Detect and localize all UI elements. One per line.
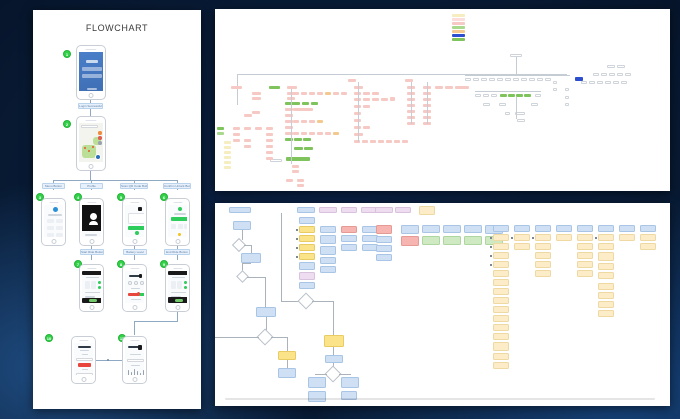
menu-item-1[interactable] (47, 219, 54, 223)
new-account-select-2[interactable] (76, 373, 93, 375)
menu-avatar (53, 207, 58, 212)
sitemap-row-d1[interactable] (293, 120, 299, 123)
unlock-success-icon (178, 207, 182, 211)
process-list3-n1[interactable] (535, 234, 551, 241)
process-col2-n4[interactable] (320, 257, 336, 264)
process-list1-n6[interactable] (493, 279, 509, 286)
sitemap-right-chain-2[interactable] (473, 78, 479, 81)
process-list4-head[interactable] (556, 225, 572, 232)
sitemap-right-row2-4[interactable] (535, 94, 541, 97)
step-badge-10[interactable]: 10 (45, 334, 53, 342)
sitemap-node-wide[interactable] (286, 157, 310, 161)
sitemap-mid-n3[interactable] (363, 92, 370, 95)
home-button[interactable] (132, 377, 137, 382)
process-col2-n1[interactable] (320, 226, 336, 233)
home-button[interactable] (89, 164, 94, 169)
sitemap-far-left-yellow-5[interactable] (224, 161, 231, 164)
sitemap-right-green-1[interactable] (500, 94, 507, 97)
home-button[interactable] (175, 305, 180, 310)
process-list5-n5[interactable] (577, 270, 593, 277)
sitemap-mid-n22[interactable] (394, 140, 400, 143)
process-list6-n6[interactable] (598, 283, 614, 290)
process-list2-n1[interactable] (514, 234, 530, 241)
map-locate-button[interactable] (95, 154, 101, 160)
process-list8-n1[interactable] (640, 234, 656, 241)
sitemap-right-row4-2[interactable] (515, 112, 525, 115)
sitemap-mid-n4[interactable] (372, 92, 379, 95)
confirm-unlock-button[interactable] (171, 217, 187, 221)
sitemap-right-row5-1[interactable] (517, 119, 525, 122)
unlock-detail-row-2 (178, 224, 183, 229)
map-action-red[interactable] (98, 136, 102, 140)
sitemap-far-right-col-1[interactable] (553, 81, 557, 84)
process-col6-n1[interactable] (401, 236, 419, 246)
process-list1-head[interactable] (493, 225, 509, 232)
process-col1-n1[interactable] (299, 226, 315, 233)
menu-item-2[interactable] (56, 219, 63, 223)
home-button[interactable] (89, 239, 94, 244)
process-col5-n3[interactable] (376, 245, 392, 252)
sitemap-row-e5[interactable] (325, 132, 331, 135)
phone-menu-screen[interactable] (41, 198, 66, 246)
new-account-select-1[interactable] (76, 358, 93, 361)
sitemap-right-green-3[interactable] (516, 94, 523, 97)
screenshot-stage: FLOWCHART 1 Login Successful 2 (0, 0, 680, 419)
sitemap-right-row3-1[interactable] (483, 103, 490, 106)
process-flowchart-panel[interactable] (215, 203, 670, 406)
sitemap-col6-n2[interactable] (266, 139, 273, 142)
process-col1-n3[interactable] (299, 244, 315, 251)
sitemap-col6-n4[interactable] (266, 151, 273, 154)
sitemap-row-a7[interactable] (341, 92, 347, 95)
phone-speaker (85, 120, 96, 122)
menu-item-5[interactable] (47, 233, 54, 237)
flowchart-panel[interactable]: FLOWCHART 1 Login Successful 2 (33, 10, 201, 409)
unlock-title (174, 213, 186, 215)
process-list1-n3[interactable] (493, 252, 509, 259)
process-list5-n1[interactable] (577, 234, 593, 241)
sitemap-right-top-1[interactable] (607, 65, 615, 68)
sitemap-mid-head-1[interactable] (348, 79, 356, 82)
sitemap-node-c8[interactable] (285, 126, 293, 129)
process-list1-n1[interactable] (493, 234, 509, 241)
sitemap-right-chain-6[interactable] (505, 78, 511, 81)
sitemap-row-e4[interactable] (317, 132, 323, 135)
process-col5-n2[interactable] (376, 236, 392, 243)
process-list7-n1[interactable] (619, 234, 635, 241)
process-list2-n2[interactable] (514, 243, 530, 250)
process-list-bullet-3 (490, 255, 492, 257)
process-list3-n3[interactable] (535, 252, 551, 259)
process-left-box-4[interactable] (278, 368, 296, 378)
sitemap-node-c15[interactable] (292, 165, 299, 168)
sitemap-row-b2[interactable] (302, 102, 309, 105)
process-bottom-box-left-2[interactable] (308, 391, 326, 402)
sitemap-col6-n5[interactable] (266, 157, 273, 160)
connector-label-scan-qr: Scan QR Code Button (120, 183, 148, 189)
unlock-button[interactable] (128, 226, 144, 230)
sitemap-right-bot-2[interactable] (589, 81, 595, 84)
sitemap-row-c1[interactable] (293, 108, 313, 111)
sitemap-far-right-col-2[interactable] (553, 88, 557, 91)
sitemap-right-green-4[interactable] (524, 94, 531, 97)
sitemap-far-left-yellow-1[interactable] (224, 141, 231, 144)
step-badge-2[interactable]: 2 (63, 120, 71, 128)
add-credit-button[interactable] (78, 363, 91, 367)
process-bottom-box-left[interactable] (308, 377, 326, 388)
sitemap-col3-n2[interactable] (244, 139, 251, 142)
process-header-1[interactable] (229, 207, 251, 213)
process-col5-n4[interactable] (376, 254, 392, 261)
sitemap-right-mid-2[interactable] (601, 73, 607, 76)
process-list5-head[interactable] (577, 225, 593, 232)
sitemap-right-bot-5[interactable] (613, 81, 619, 84)
sitemap-mid-n8[interactable] (381, 98, 388, 101)
forgot-password-link[interactable] (87, 88, 97, 90)
process-col1-bullet-3 (296, 247, 298, 249)
phone-scan-screen[interactable] (122, 198, 147, 246)
sitemap-node-l4[interactable] (244, 114, 252, 117)
sitemap-far-right-col-4[interactable] (565, 96, 569, 99)
process-list1-n15[interactable] (493, 362, 509, 369)
email-field[interactable] (82, 67, 102, 71)
menu-item-3[interactable] (47, 226, 54, 230)
sitemap-right-bot-1[interactable] (581, 81, 587, 84)
sitemap-node-c7[interactable] (285, 120, 293, 123)
process-col7-n1[interactable] (422, 236, 440, 245)
sitemap-mid-n18[interactable] (362, 140, 368, 143)
sitemap-right-mid-3[interactable] (609, 73, 615, 76)
sitemap-node-c19[interactable] (297, 184, 304, 187)
process-list1-n11[interactable] (493, 324, 509, 331)
process-list5-n2[interactable] (577, 243, 593, 250)
ride-history-menu-icon[interactable] (138, 345, 142, 350)
sitemap-node-c12[interactable] (303, 138, 311, 141)
sitemap-node-c14[interactable] (304, 147, 313, 150)
process-list5-n3[interactable] (577, 252, 593, 259)
home-button[interactable] (51, 239, 56, 244)
sitemap-tall3-n3[interactable] (455, 86, 469, 89)
sitemap-right-row2-2[interactable] (483, 94, 489, 97)
process-list6-n8[interactable] (598, 301, 614, 308)
sitemap-mid-n6[interactable] (363, 98, 370, 101)
process-col9-head[interactable] (464, 225, 482, 233)
process-col1-n5[interactable] (299, 262, 315, 270)
sitemap-right-mid-1[interactable] (593, 73, 599, 76)
home-button[interactable] (132, 239, 137, 244)
sitemap-row-a4[interactable] (317, 92, 323, 95)
sitemap-row-a3[interactable] (309, 92, 315, 95)
process-col6-head[interactable] (401, 225, 419, 234)
ride-slider-handle[interactable] (89, 299, 97, 302)
process-col8-n1[interactable] (443, 236, 461, 245)
sitemap-node-c6[interactable] (285, 114, 293, 117)
sitemap-right-chain-5[interactable] (497, 78, 503, 81)
sitemap-right-chain-1[interactable] (465, 78, 471, 81)
sitemap-node-c16[interactable] (292, 170, 299, 173)
process-header-3[interactable] (319, 207, 337, 213)
sitemap-col3-n1[interactable] (244, 127, 251, 130)
process-list1-n13[interactable] (493, 342, 509, 351)
process-col2-n5[interactable] (320, 266, 336, 273)
ride-panel-left (85, 281, 90, 289)
process-list1-n7[interactable] (493, 288, 509, 295)
map-action-orange[interactable] (98, 131, 102, 135)
process-list6-n2[interactable] (598, 243, 614, 250)
sitemap-node-c13[interactable] (294, 147, 303, 150)
sitemap-mid-n23[interactable] (402, 140, 408, 143)
process-list3-n4[interactable] (535, 261, 551, 268)
process-list6-n7[interactable] (598, 292, 614, 299)
home-button[interactable] (89, 305, 94, 310)
process-col2-n2[interactable] (320, 235, 336, 244)
process-list1-n14[interactable] (493, 353, 509, 360)
process-list1-n5[interactable] (493, 270, 509, 277)
sitemap-right-green-2[interactable] (508, 94, 515, 97)
process-col9-n1[interactable] (464, 236, 482, 245)
process-header-8[interactable] (419, 206, 435, 215)
sitemap-row-e2[interactable] (301, 132, 307, 135)
process-header-7[interactable] (395, 207, 411, 213)
sitemap-mid-n1[interactable] (354, 86, 363, 89)
sitemap-far-left-yellow-4[interactable] (224, 156, 231, 159)
legend-swatch-green-2 (452, 38, 465, 41)
process-header-6[interactable] (375, 207, 393, 213)
process-list2-head[interactable] (514, 225, 530, 232)
sitemap-mid-n15[interactable] (363, 126, 370, 129)
sitemap-right-chain-3[interactable] (481, 78, 487, 81)
sitemap-node-l1[interactable] (252, 92, 261, 95)
sitemap-right-row2-1[interactable] (475, 94, 481, 97)
map-search-bar[interactable] (81, 125, 98, 128)
chart-bar-2 (131, 372, 132, 375)
sitemap-far-left-green-2[interactable] (217, 132, 224, 135)
process-left-box-3[interactable] (256, 307, 276, 317)
process-list3-n5[interactable] (535, 270, 551, 277)
phone-new-account-screen[interactable] (71, 336, 96, 384)
sitemap-right-chain-9[interactable] (529, 78, 535, 81)
process-header-4[interactable] (341, 207, 357, 213)
sitemap-far-left-yellow-2[interactable] (224, 146, 231, 149)
sitemap-node-green-head[interactable] (269, 86, 280, 89)
step-badge-1[interactable]: 1 (63, 50, 71, 58)
sitemap-right-bot-6[interactable] (621, 81, 627, 84)
process-list6-n3[interactable] (598, 252, 614, 261)
battery-node-1 (128, 281, 132, 285)
sitemap-mid-n7[interactable] (372, 98, 379, 101)
process-col7-head[interactable] (422, 225, 440, 233)
screen-new-account (74, 343, 93, 375)
process-list6-n9[interactable] (598, 310, 614, 317)
screen-map (79, 123, 103, 162)
sitemap-row-a6[interactable] (333, 92, 339, 95)
sitemap-col6-n3[interactable] (266, 145, 273, 148)
screen-end-ride (168, 271, 187, 303)
home-button[interactable] (132, 305, 137, 310)
sitemap-node-c5[interactable] (285, 108, 293, 111)
process-list1-n9[interactable] (493, 306, 509, 313)
process-list6-n4[interactable] (598, 263, 614, 270)
process-col1-n4[interactable] (299, 253, 315, 260)
process-list6-n5[interactable] (598, 272, 614, 279)
horizontal-scrollbar[interactable] (225, 398, 655, 400)
sitemap-col5-n1[interactable] (266, 127, 273, 130)
sitemap-mid-n16[interactable] (354, 133, 363, 136)
sitemap-row-b1[interactable] (293, 102, 300, 105)
map-action-gray[interactable] (98, 141, 102, 145)
map-pin-1[interactable] (84, 147, 86, 149)
process-col2-n3[interactable] (320, 246, 336, 255)
sitemap-row-e3[interactable] (309, 132, 315, 135)
process-yellow-box-1[interactable] (278, 351, 296, 360)
process-list6-head[interactable] (598, 225, 614, 232)
sitemap-node-l2[interactable] (252, 97, 261, 100)
sitemap-col2-n3[interactable] (233, 139, 240, 142)
sitemap-col6-n1[interactable] (266, 133, 273, 136)
sitemap-right-chain-10[interactable] (537, 78, 543, 81)
process-col3-n3[interactable] (341, 244, 357, 251)
process-list1-n12[interactable] (493, 333, 509, 340)
process-list3-n2[interactable] (535, 243, 551, 250)
sitemap-row-a2[interactable] (301, 92, 307, 95)
phone-battery-screen[interactable] (122, 264, 147, 312)
sitemap-node-c18[interactable] (297, 179, 304, 182)
sitemap-tall-head[interactable] (405, 79, 413, 82)
home-button[interactable] (81, 377, 86, 382)
sitemap-right-chain-11[interactable] (545, 78, 551, 81)
sitemap-mid-n17[interactable] (354, 140, 360, 143)
process-col3-n1[interactable] (341, 226, 357, 233)
process-yellow-box-2[interactable] (324, 335, 344, 347)
sitemap-mid-n21[interactable] (386, 140, 392, 143)
sitemap-node-c17[interactable] (286, 179, 293, 182)
sitemap-row-a5[interactable] (325, 92, 331, 95)
sitemap-far-right-col-3[interactable] (565, 88, 569, 91)
process-list4-n1[interactable] (556, 234, 572, 241)
sitemap-canvas (215, 9, 670, 191)
sitemap-right-row3-3[interactable] (531, 103, 538, 106)
sitemap-row-d3[interactable] (309, 120, 315, 123)
phone-end-ride-screen[interactable] (165, 264, 190, 312)
sitemap-row-d4[interactable] (317, 120, 323, 123)
process-bottom-box-right[interactable] (341, 377, 359, 388)
sitemap-node-c10[interactable] (285, 138, 293, 141)
process-col1-n6[interactable] (299, 272, 315, 280)
process-left-box-2[interactable] (241, 253, 261, 263)
process-list1-n10[interactable] (493, 315, 509, 322)
sitemap-right-bot-4[interactable] (605, 81, 611, 84)
process-list7-head[interactable] (619, 225, 635, 232)
sitemap-far-left-green[interactable] (217, 127, 224, 130)
end-ride-slider-handle[interactable] (175, 299, 183, 302)
sitemap-row-e6[interactable] (333, 132, 339, 135)
process-col8-head[interactable] (443, 225, 461, 233)
process-list8-n2[interactable] (640, 243, 656, 250)
phone-profile-screen[interactable] (79, 198, 104, 246)
sitemap-far-right-col-5[interactable] (565, 103, 569, 106)
home-button[interactable] (175, 239, 180, 244)
sitemap-mid-n19[interactable] (370, 140, 376, 143)
process-list6-n1[interactable] (598, 234, 614, 241)
map-pin-2[interactable] (88, 150, 90, 152)
sitemap-right-top-2[interactable] (617, 65, 625, 68)
sitemap-far-left-yellow-6[interactable] (224, 166, 231, 169)
sitemap-far-left-yellow-3[interactable] (224, 151, 231, 154)
sitemap-col4-n1[interactable] (255, 127, 262, 130)
phone-map-home-screen[interactable] (76, 116, 106, 171)
process-left-box-1[interactable] (233, 221, 251, 230)
sitemap-col3-n3[interactable] (244, 145, 251, 148)
sitemap-panel[interactable] (215, 9, 670, 191)
sitemap-node-c11[interactable] (294, 138, 302, 141)
process-header-2[interactable] (297, 207, 315, 213)
sitemap-row-a1[interactable] (293, 92, 299, 95)
sitemap-node-c9[interactable] (285, 132, 293, 135)
sitemap-right-bot-3[interactable] (597, 81, 603, 84)
process-col3-n2[interactable] (341, 235, 357, 242)
process-list3-head[interactable] (535, 225, 551, 232)
sitemap-right-row2-3[interactable] (491, 94, 497, 97)
sitemap-tall3-n2[interactable] (445, 86, 453, 89)
sitemap-mid-n9[interactable] (390, 97, 395, 101)
sitemap-row-b3[interactable] (311, 102, 318, 105)
sitemap-right-mid-4[interactable] (617, 73, 623, 76)
sitemap-right-chain-4[interactable] (489, 78, 495, 81)
scan-close-icon[interactable] (138, 207, 142, 211)
sitemap-right-chain-7[interactable] (513, 78, 519, 81)
sitemap-row-d2[interactable] (301, 120, 307, 123)
sitemap-right-row3-2[interactable] (499, 103, 506, 106)
sitemap-mid-n11[interactable] (363, 105, 370, 108)
home-button[interactable] (89, 93, 94, 98)
process-list1-n4[interactable] (493, 261, 509, 268)
sitemap-col2-n1[interactable] (233, 127, 240, 130)
sitemap-right-mid-5[interactable] (625, 73, 631, 76)
process-col1-n7[interactable] (299, 282, 315, 289)
process-mid-box-1[interactable] (325, 355, 343, 363)
sitemap-node-c1[interactable] (287, 86, 297, 89)
map-pin-3[interactable] (92, 146, 94, 148)
new-account-title (78, 346, 91, 348)
sitemap-tall3-n1[interactable] (435, 86, 443, 89)
sitemap-col2-n2[interactable] (233, 133, 240, 136)
ride-history-select[interactable] (127, 359, 144, 362)
process-list1-n2[interactable] (493, 243, 509, 250)
process-list1-n8[interactable] (493, 297, 509, 304)
profile-name (85, 234, 97, 236)
phone-sign-in-screen[interactable] (76, 45, 106, 100)
ride-info-text (85, 292, 100, 293)
process-list5-n4[interactable] (577, 261, 593, 268)
battery-node-2 (134, 281, 138, 285)
phone-ride-history-screen[interactable] (122, 336, 147, 384)
process-col5-n1[interactable] (376, 225, 392, 234)
sitemap-right-chain-8[interactable] (521, 78, 527, 81)
process-col1-n2[interactable] (299, 235, 315, 242)
sitemap-row-e1[interactable] (293, 132, 299, 135)
process-list8-head[interactable] (640, 225, 656, 232)
phone-unlock-screen[interactable] (165, 198, 190, 246)
phone-speaker (173, 268, 182, 270)
menu-item-6[interactable] (56, 233, 63, 237)
sitemap-node-l3[interactable] (252, 111, 260, 114)
sitemap-right-row4-1[interactable] (505, 112, 510, 115)
password-field[interactable] (82, 74, 102, 78)
phone-ride-progress-screen[interactable] (79, 264, 104, 312)
menu-item-4[interactable] (56, 226, 63, 230)
process-col1-head[interactable] (299, 217, 315, 224)
sitemap-mid-n20[interactable] (378, 140, 384, 143)
